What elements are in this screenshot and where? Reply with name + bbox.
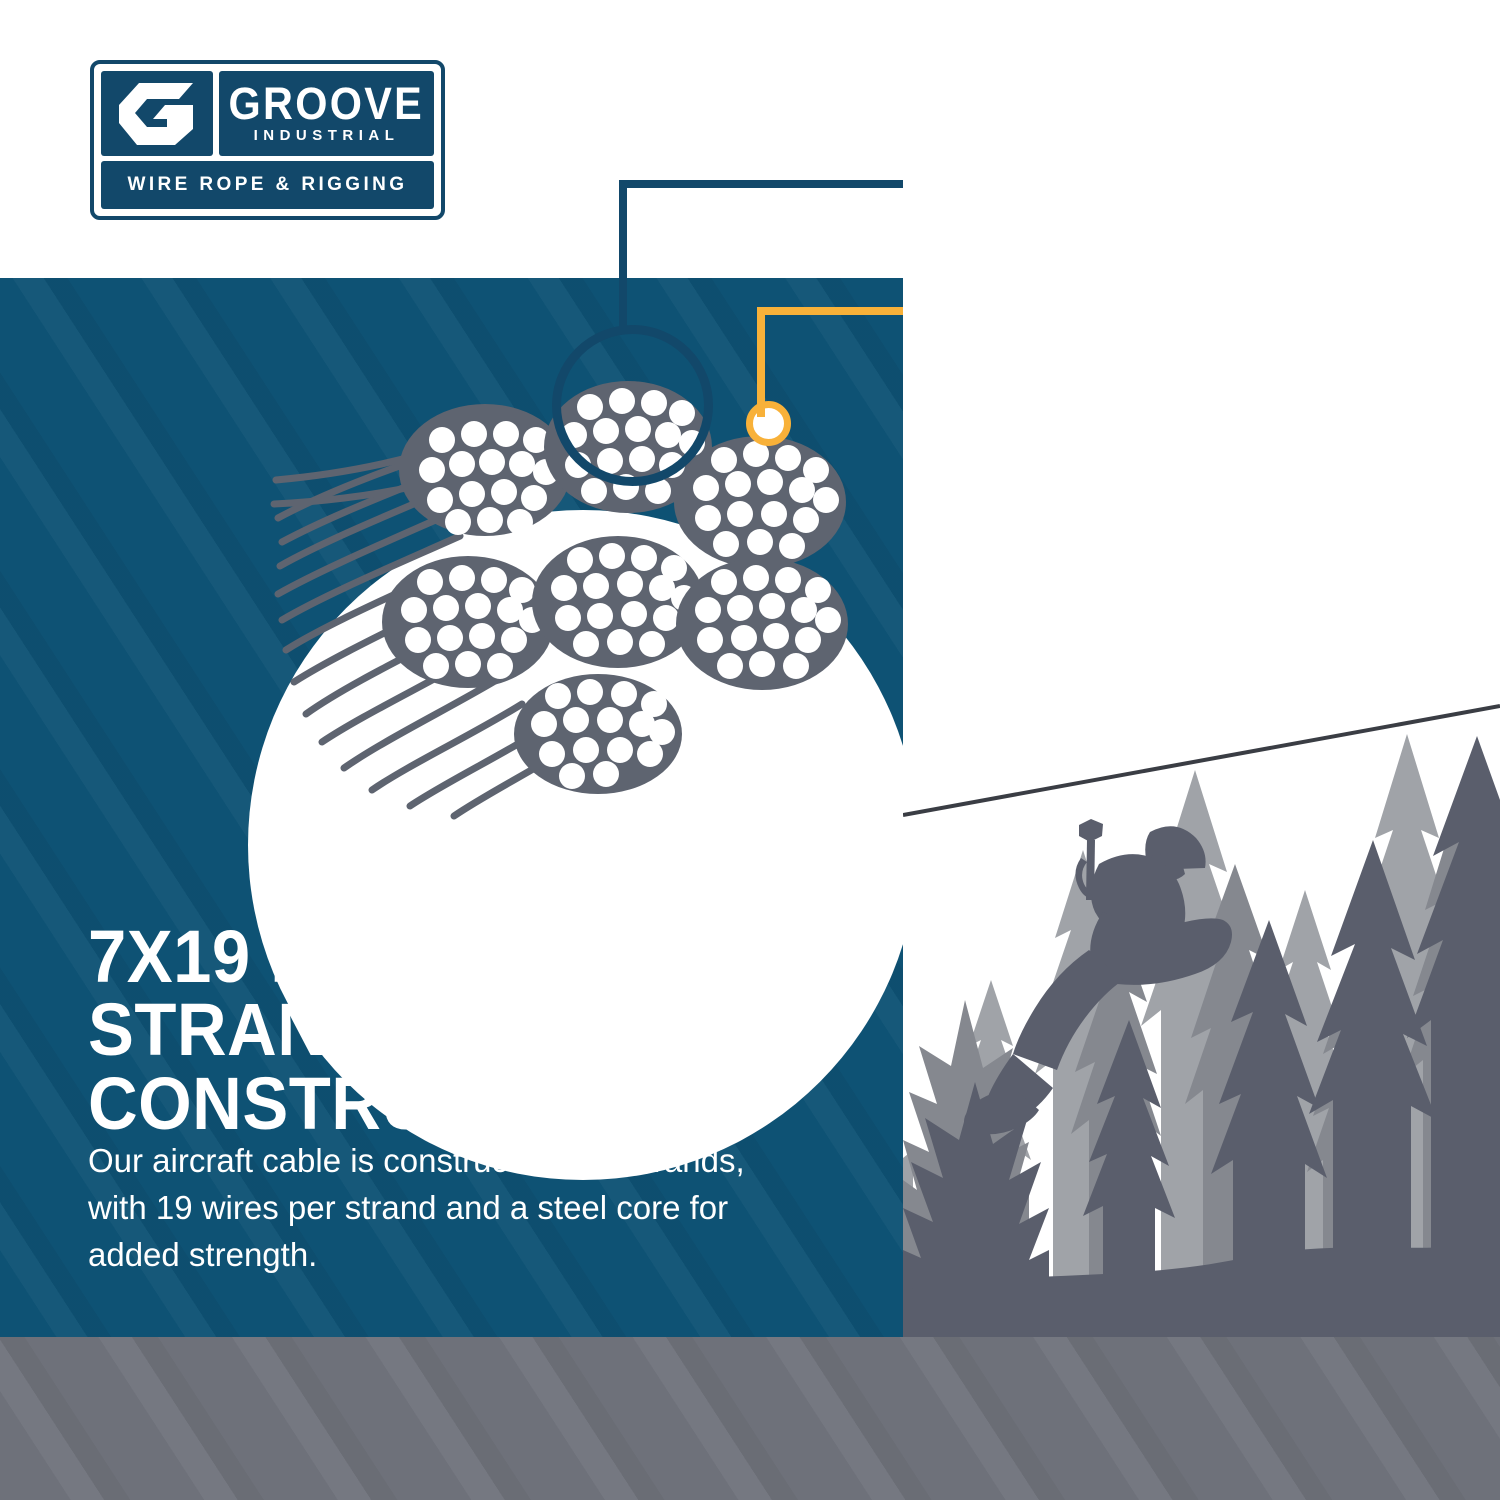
brand-tagline-bar: WIRE ROPE & RIGGING <box>101 161 434 209</box>
body-description: Our aircraft cable is constructed of 7 s… <box>88 1138 768 1279</box>
footer-band <box>0 1337 1500 1500</box>
page-title: 7X19 FLEXIBLE STRAND CONSTRUCTION <box>88 920 823 1140</box>
wire-highlight-ring <box>746 401 791 446</box>
headline-line-1: 7X19 FLEXIBLE <box>88 915 607 998</box>
brand-name: GROOVE <box>229 83 425 124</box>
groove-g-icon <box>101 71 213 156</box>
zipline-forest-scene <box>903 0 1500 1337</box>
headline-line-2: STRAND CONSTRUCTION <box>88 993 823 1140</box>
brand-logo[interactable]: GROOVE INDUSTRIAL WIRE ROPE & RIGGING <box>90 60 445 220</box>
infographic-canvas: 7 STRANDS 19 WIRES PER STRAND HOT DIP GA… <box>0 0 1500 1500</box>
brand-tagline: WIRE ROPE & RIGGING <box>128 174 408 196</box>
magnifier-ring <box>552 325 713 486</box>
brand-subtitle: INDUSTRIAL <box>254 127 400 144</box>
footer-stripe-texture <box>0 1337 1500 1500</box>
